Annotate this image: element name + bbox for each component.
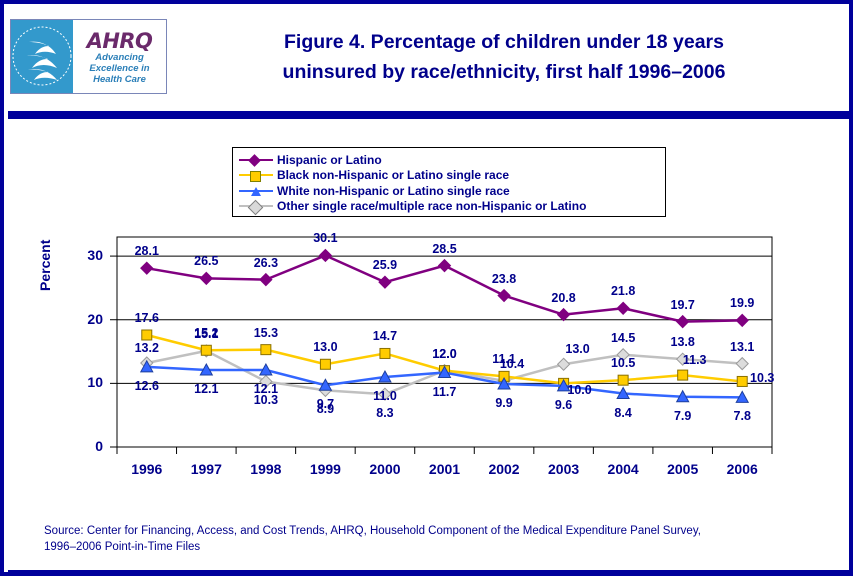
data-point-label: 28.1: [135, 244, 159, 258]
legend-item-white[interactable]: White non-Hispanic or Latino single race: [239, 183, 659, 199]
legend-swatch-hispanic: [239, 153, 273, 167]
chart-legend: Hispanic or Latino Black non-Hispanic or…: [232, 147, 666, 217]
data-point-label: 11.7: [433, 385, 457, 399]
x-axis-tick-label: 2001: [415, 461, 475, 477]
data-point-label: 13.2: [135, 341, 159, 355]
data-point-label: 26.5: [194, 254, 218, 268]
legend-swatch-other: [239, 199, 273, 213]
data-point-label: 14.5: [611, 331, 635, 345]
data-point-label: 12.1: [254, 382, 278, 396]
figure-window: AHRQ Advancing Excellence in Health Care…: [0, 0, 853, 576]
data-point-label: 25.9: [373, 258, 397, 272]
legend-label-other: Other single race/multiple race non-Hisp…: [277, 199, 586, 213]
legend-marker-diamond-open-icon: [248, 200, 264, 216]
data-point-label: 28.5: [432, 242, 456, 256]
data-point-label: 10.3: [254, 393, 278, 407]
y-axis-tick-label: 10: [69, 374, 103, 390]
data-point-label: 7.8: [734, 409, 751, 423]
y-axis-tick-label: 20: [69, 311, 103, 327]
x-axis-tick-label: 2005: [653, 461, 713, 477]
x-axis-tick-label: 1999: [295, 461, 355, 477]
x-axis-tick-label: 2003: [534, 461, 594, 477]
data-point-label: 13.8: [671, 335, 695, 349]
ahrq-tagline-line3: Health Care: [73, 74, 166, 85]
ahrq-tagline-line2: Excellence in: [73, 63, 166, 74]
header-divider: [8, 111, 849, 119]
data-point-label: 15.3: [254, 326, 278, 340]
footer-divider: [8, 570, 849, 576]
data-point-label: 15.2: [194, 326, 218, 340]
legend-label-black: Black non-Hispanic or Latino single race: [277, 168, 509, 182]
data-point-label: 10.3: [750, 371, 774, 385]
legend-marker-triangle-icon: [251, 187, 261, 196]
legend-label-white: White non-Hispanic or Latino single race: [277, 184, 510, 198]
y-axis-title: Percent: [37, 240, 53, 291]
hhs-seal-icon: [11, 20, 73, 93]
ahrq-abbr: AHRQ: [73, 31, 166, 51]
page-title-line1: Figure 4. Percentage of children under 1…: [184, 27, 824, 57]
data-point-label: 14.7: [373, 329, 397, 343]
x-axis-tick-label: 1998: [236, 461, 296, 477]
data-point-label: 30.1: [313, 231, 337, 245]
data-point-label: 21.8: [611, 284, 635, 298]
ahrq-logo: AHRQ Advancing Excellence in Health Care: [10, 19, 167, 94]
data-point-label: 12.1: [194, 382, 218, 396]
page-title: Figure 4. Percentage of children under 1…: [184, 27, 824, 87]
x-axis-tick-label: 2006: [712, 461, 772, 477]
data-point-label: 19.7: [671, 298, 695, 312]
data-point-label: 8.4: [614, 406, 631, 420]
legend-label-hispanic: Hispanic or Latino: [277, 153, 382, 167]
data-point-label: 8.9: [317, 402, 334, 416]
legend-item-other[interactable]: Other single race/multiple race non-Hisp…: [239, 199, 659, 215]
data-point-label: 13.0: [565, 342, 589, 356]
page-title-line2: uninsured by race/ethnicity, first half …: [184, 57, 824, 87]
data-point-label: 11.1: [492, 352, 516, 366]
y-axis-tick-label: 0: [69, 438, 103, 454]
data-point-label: 10.5: [611, 356, 635, 370]
source-note-line1: Source: Center for Financing, Access, an…: [44, 523, 834, 539]
data-point-label: 12.0: [432, 347, 456, 361]
ahrq-tagline: Advancing Excellence in Health Care: [73, 52, 166, 85]
x-axis-tick-label: 1996: [117, 461, 177, 477]
source-note-line2: 1996–2006 Point-in-Time Files: [44, 539, 834, 555]
data-point-label: 7.9: [674, 409, 691, 423]
data-point-label: 17.6: [135, 311, 159, 325]
data-point-label: 12.6: [135, 379, 159, 393]
data-point-label: 19.9: [730, 296, 754, 310]
x-axis-tick-label: 2002: [474, 461, 534, 477]
data-point-label: 9.7: [317, 397, 334, 411]
x-axis-tick-label: 2000: [355, 461, 415, 477]
data-point-label: 9.6: [555, 398, 572, 412]
data-point-label: 10.0: [567, 383, 591, 397]
y-axis-tick-label: 30: [69, 247, 103, 263]
data-point-label: 23.8: [492, 272, 516, 286]
ahrq-tagline-line1: Advancing: [73, 52, 166, 63]
legend-swatch-white: [239, 184, 273, 198]
data-point-label: 9.9: [495, 396, 512, 410]
x-axis-tick-label: 1997: [176, 461, 236, 477]
data-point-label: 12.0: [432, 347, 456, 361]
legend-marker-diamond-icon: [248, 154, 261, 167]
data-point-label: 11.3: [683, 353, 707, 367]
source-note: Source: Center for Financing, Access, an…: [44, 523, 834, 555]
header-banner: AHRQ Advancing Excellence in Health Care…: [4, 4, 849, 108]
legend-marker-square-icon: [250, 171, 261, 182]
data-point-label: 20.8: [551, 291, 575, 305]
data-point-label: 10.4: [500, 357, 524, 371]
data-point-label: 15.1: [194, 327, 218, 341]
x-axis-tick-label: 2004: [593, 461, 653, 477]
data-point-label: 13.1: [730, 340, 754, 354]
data-point-label: 8.3: [376, 406, 393, 420]
legend-item-black[interactable]: Black non-Hispanic or Latino single race: [239, 168, 659, 184]
data-point-label: 11.0: [373, 389, 397, 403]
data-point-label: 13.0: [313, 340, 337, 354]
legend-item-hispanic[interactable]: Hispanic or Latino: [239, 152, 659, 168]
data-point-label: 26.3: [254, 256, 278, 270]
ahrq-wordmark: AHRQ Advancing Excellence in Health Care: [73, 20, 166, 93]
legend-swatch-black: [239, 168, 273, 182]
